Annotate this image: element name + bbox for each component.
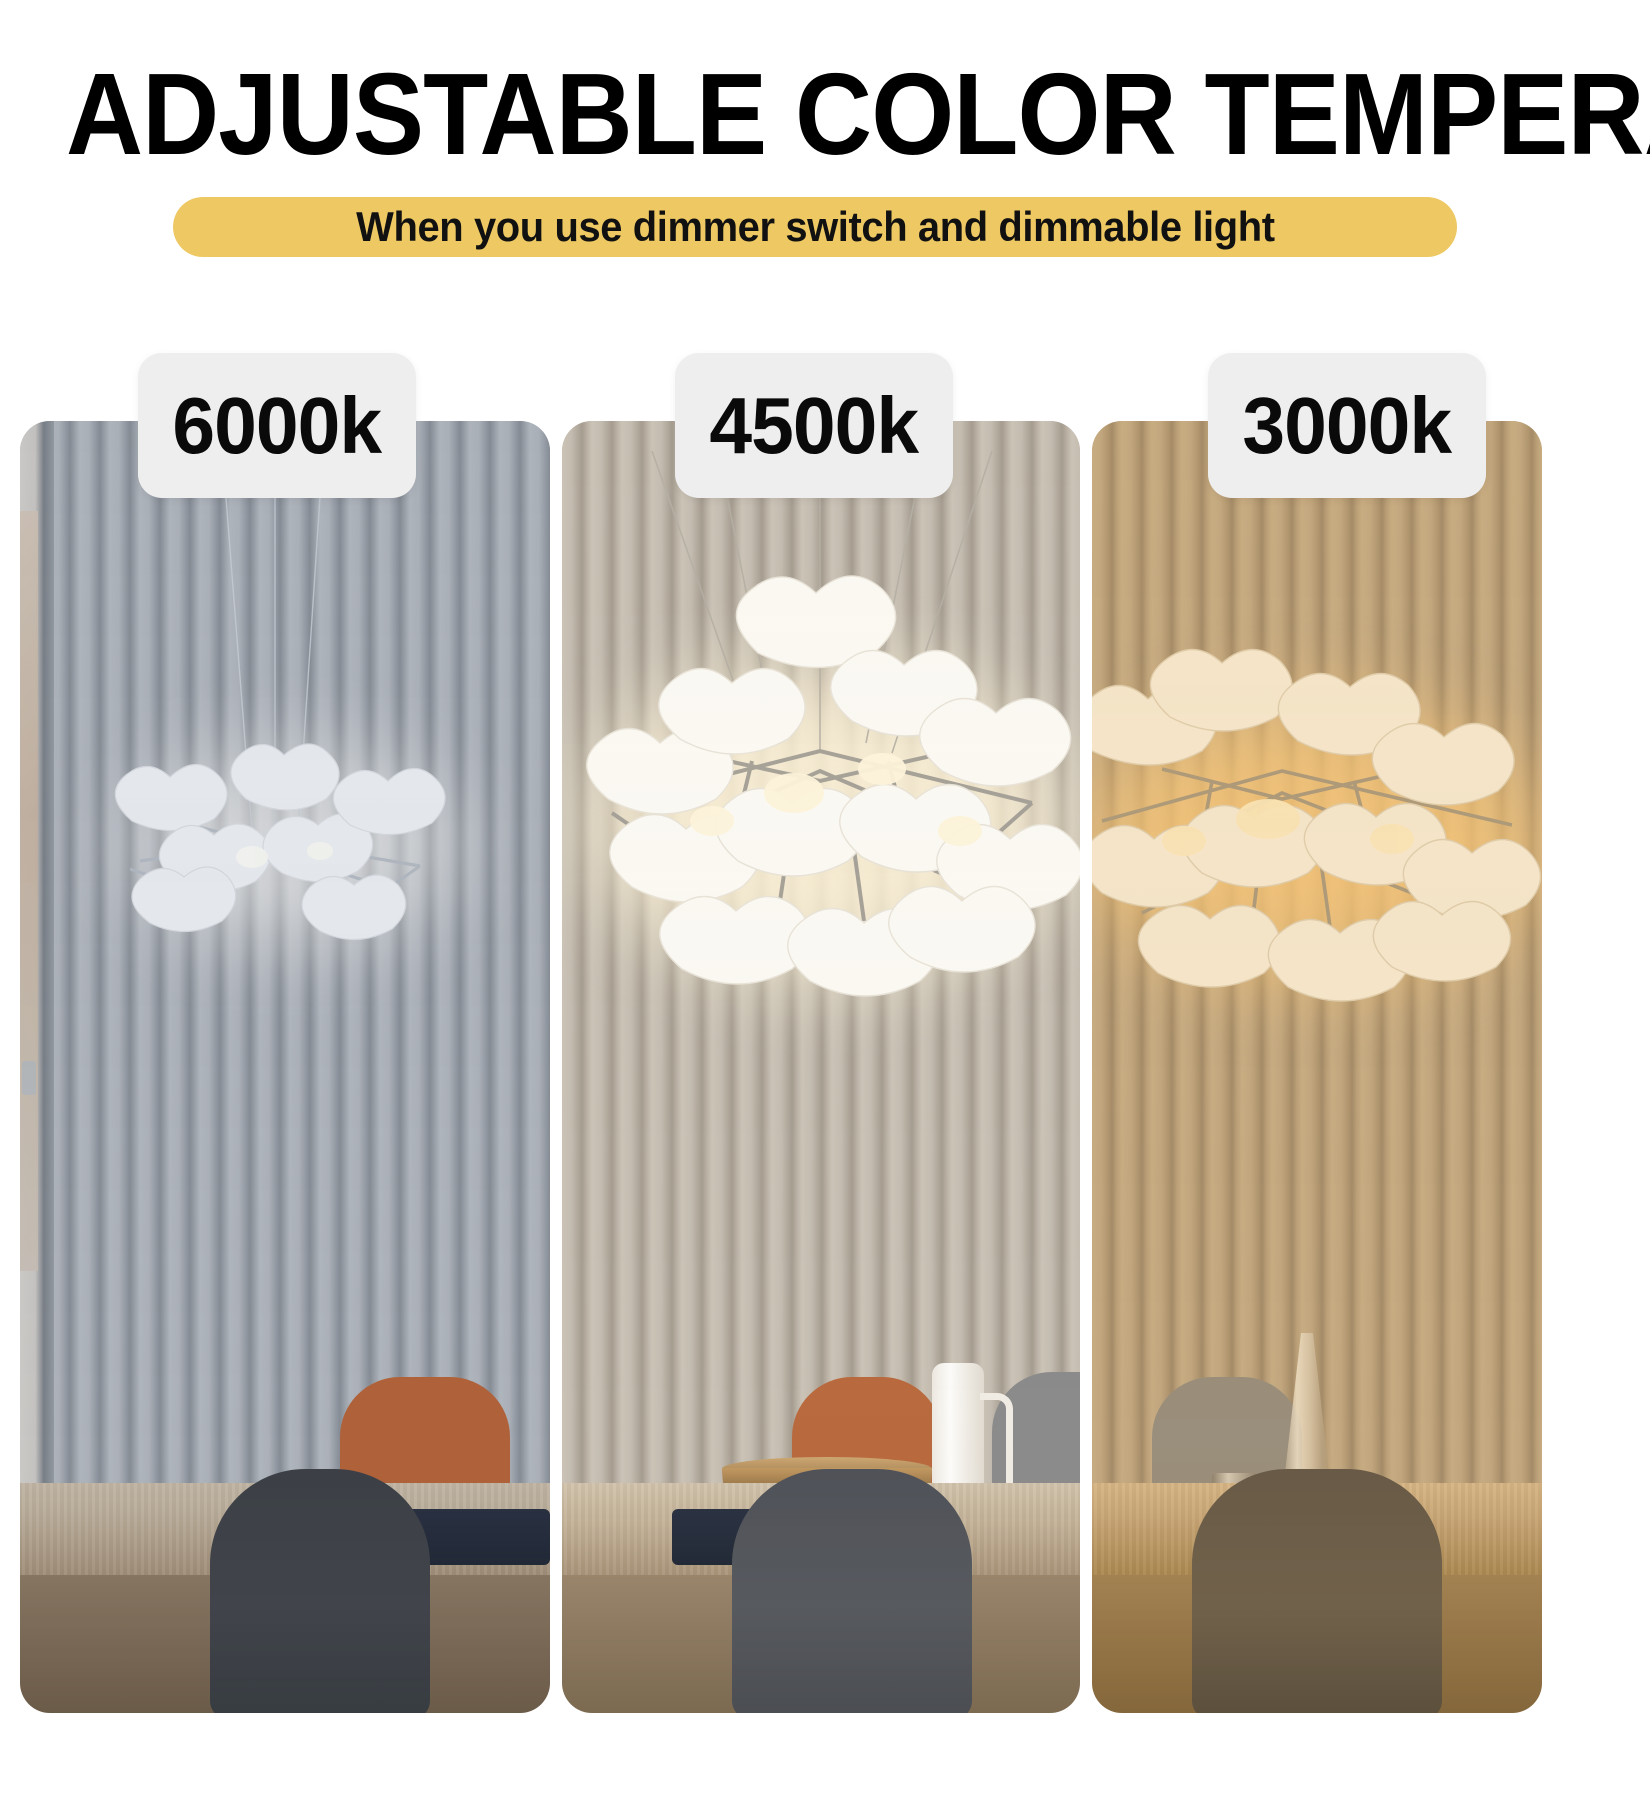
color-temperature-tone-overlay — [562, 421, 1080, 1713]
badge-6000k-label: 6000k — [173, 380, 382, 472]
color-temperature-tone-overlay — [1092, 421, 1542, 1713]
badge-3000k: 3000k — [1208, 353, 1486, 498]
comparison-strip — [0, 0, 1650, 1800]
badge-4500k-label: 4500k — [710, 380, 919, 472]
comparison-panel-6000k[interactable] — [20, 421, 550, 1713]
badge-6000k: 6000k — [138, 353, 416, 498]
product-feature-page: ADJUSTABLE COLOR TEMPERATURE When you us… — [0, 0, 1650, 1800]
comparison-panel-4500k[interactable] — [562, 421, 1080, 1713]
badge-4500k: 4500k — [675, 353, 953, 498]
comparison-panel-3000k[interactable] — [1092, 421, 1542, 1713]
color-temperature-tone-overlay — [20, 421, 550, 1713]
badge-3000k-label: 3000k — [1243, 380, 1452, 472]
